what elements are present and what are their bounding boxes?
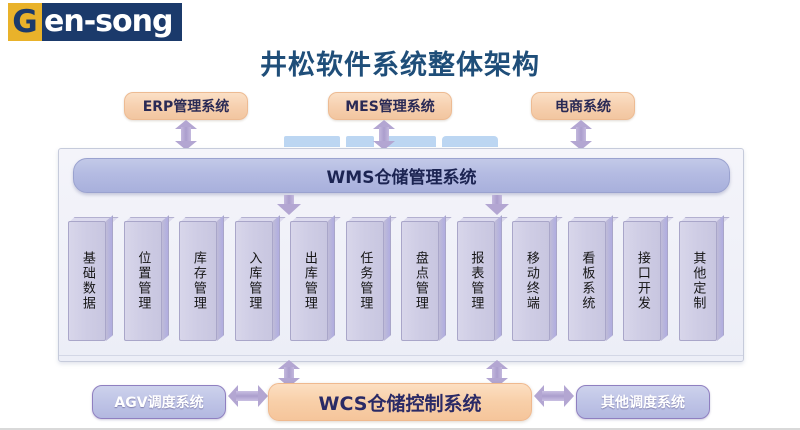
- module-box-face: 其他定制: [679, 221, 717, 341]
- arrow-erp-wms: [175, 120, 197, 150]
- module-box-side: [162, 215, 169, 341]
- module-box[interactable]: 基础数据: [68, 217, 112, 341]
- tab-decoration-1: [284, 136, 340, 147]
- slide-canvas: G en-song 井松软件系统整体架构 ERP管理系统 MES管理系统 电商系…: [0, 0, 800, 430]
- module-box-face: 移动终端: [512, 221, 550, 341]
- module-label: 入库管理: [247, 251, 261, 311]
- page-title: 井松软件系统整体架构: [0, 43, 800, 82]
- tab-decoration-4: [442, 136, 498, 147]
- container-divider: [59, 355, 743, 356]
- module-box-face: 报表管理: [457, 221, 495, 341]
- module-box[interactable]: 库存管理: [179, 217, 223, 341]
- module-box-side: [717, 215, 724, 341]
- module-box-face: 接口开发: [623, 221, 661, 341]
- ecommerce-system-box[interactable]: 电商系统: [531, 92, 635, 120]
- module-box-face: 位置管理: [124, 221, 162, 341]
- module-box-face: 看板系统: [568, 221, 606, 341]
- module-label: 基础数据: [80, 251, 94, 311]
- module-list: 基础数据位置管理库存管理入库管理出库管理任务管理盘点管理报表管理移动终端看板系统…: [68, 217, 732, 343]
- module-box[interactable]: 其他定制: [679, 217, 723, 341]
- module-box-side: [106, 215, 113, 341]
- module-box[interactable]: 接口开发: [623, 217, 667, 341]
- arrow-agv-wcs: [228, 385, 268, 407]
- module-box-face: 盘点管理: [401, 221, 439, 341]
- module-box-side: [273, 215, 280, 341]
- arrow-wms-modules-left: [277, 195, 301, 215]
- module-box-side: [550, 215, 557, 341]
- arrow-ecommerce-wms: [570, 120, 592, 150]
- module-box-face: 入库管理: [235, 221, 273, 341]
- module-label: 盘点管理: [413, 251, 427, 311]
- erp-system-box[interactable]: ERP管理系统: [124, 92, 248, 120]
- module-box[interactable]: 位置管理: [124, 217, 168, 341]
- other-scheduling-box[interactable]: 其他调度系统: [576, 385, 710, 419]
- wms-bar[interactable]: WMS仓储管理系统: [73, 158, 730, 193]
- module-box[interactable]: 报表管理: [457, 217, 501, 341]
- module-box-side: [384, 215, 391, 341]
- module-box[interactable]: 移动终端: [512, 217, 556, 341]
- tab-decoration-2: [346, 136, 374, 147]
- module-box[interactable]: 任务管理: [346, 217, 390, 341]
- module-label: 出库管理: [302, 251, 316, 311]
- module-label: 其他定制: [691, 251, 705, 311]
- agv-scheduling-box[interactable]: AGV调度系统: [92, 385, 226, 419]
- module-box-face: 出库管理: [290, 221, 328, 341]
- module-label: 接口开发: [635, 251, 649, 311]
- mes-system-box[interactable]: MES管理系统: [328, 92, 452, 120]
- module-box-side: [217, 215, 224, 341]
- module-box-face: 库存管理: [179, 221, 217, 341]
- module-box-side: [328, 215, 335, 341]
- module-box-side: [661, 215, 668, 341]
- module-box-face: 任务管理: [346, 221, 384, 341]
- arrow-mes-wms: [373, 120, 395, 150]
- module-label: 库存管理: [191, 251, 205, 311]
- module-box-face: 基础数据: [68, 221, 106, 341]
- module-label: 看板系统: [580, 251, 594, 311]
- module-box[interactable]: 看板系统: [568, 217, 612, 341]
- module-label: 位置管理: [136, 251, 150, 311]
- arrow-wcs-other: [534, 385, 574, 407]
- arrow-wms-modules-right: [485, 195, 509, 215]
- logo-wordmark: en-song: [42, 3, 182, 41]
- module-label: 任务管理: [358, 251, 372, 311]
- module-box[interactable]: 入库管理: [235, 217, 279, 341]
- module-box[interactable]: 盘点管理: [401, 217, 445, 341]
- module-box-side: [495, 215, 502, 341]
- module-box-side: [439, 215, 446, 341]
- module-label: 报表管理: [469, 251, 483, 311]
- wcs-control-box[interactable]: WCS仓储控制系统: [268, 383, 532, 421]
- company-logo: G en-song: [8, 3, 182, 41]
- logo-initial-badge: G: [8, 3, 42, 41]
- module-label: 移动终端: [524, 251, 538, 311]
- module-box[interactable]: 出库管理: [290, 217, 334, 341]
- module-box-side: [606, 215, 613, 341]
